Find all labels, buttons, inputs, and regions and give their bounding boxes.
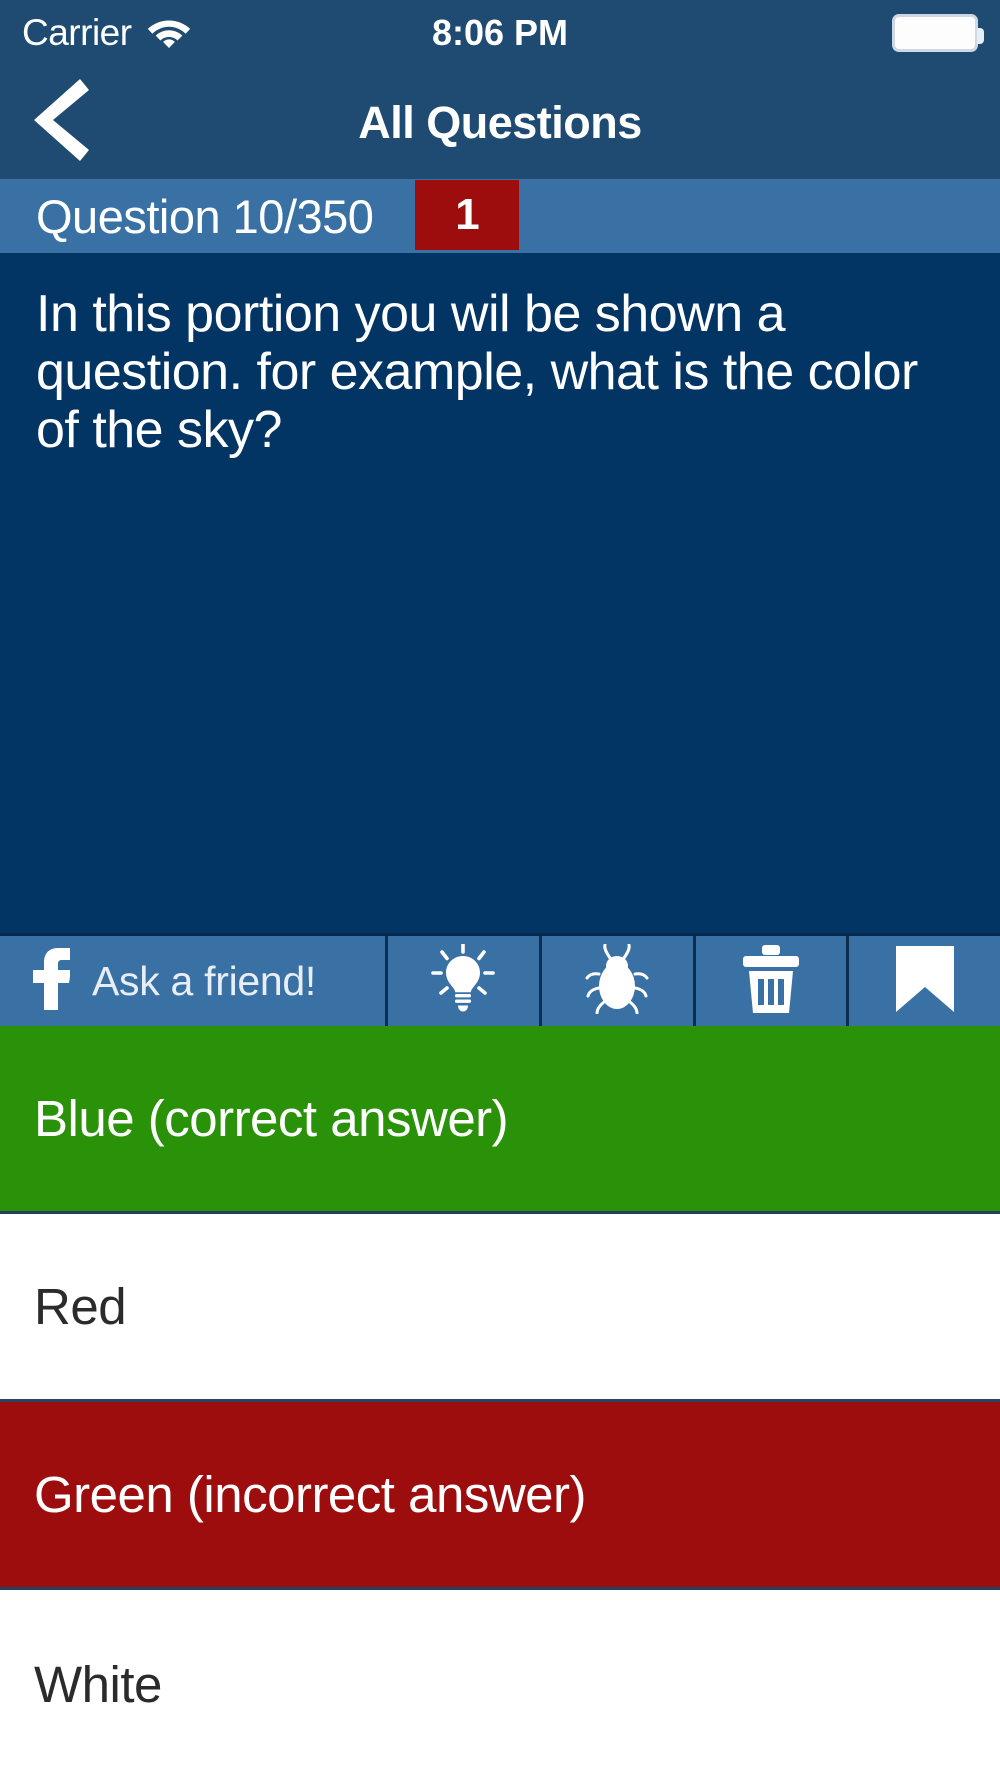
wifi-icon — [146, 14, 192, 53]
trash-icon — [741, 945, 801, 1018]
answer-option-4[interactable]: White — [0, 1590, 1000, 1778]
status-bar-right — [892, 14, 978, 52]
carrier-label: Carrier — [22, 12, 132, 54]
navigation-bar: All Questions — [0, 66, 1000, 179]
page-title: All Questions — [0, 97, 1000, 149]
answer-option-incorrect[interactable]: Green (incorrect answer) — [0, 1402, 1000, 1590]
facebook-icon — [32, 948, 70, 1015]
report-bug-button[interactable] — [539, 936, 693, 1026]
question-body: In this portion you wil be shown a quest… — [0, 253, 1000, 933]
question-header-bar: Question 10/350 1 — [0, 179, 1000, 253]
question-counter-label: Question 10/350 — [36, 189, 373, 244]
status-bar-left: Carrier — [22, 12, 192, 54]
question-text: In this portion you wil be shown a quest… — [36, 285, 964, 460]
quiz-screen: Carrier 8:06 PM All Questions — [0, 0, 1000, 1778]
bookmark-icon — [896, 946, 954, 1017]
lightbulb-icon — [431, 944, 495, 1019]
bug-icon — [584, 944, 650, 1019]
status-bar: Carrier 8:06 PM — [0, 0, 1000, 66]
delete-button[interactable] — [693, 936, 847, 1026]
answer-label: Green (incorrect answer) — [34, 1465, 586, 1524]
bookmark-button[interactable] — [846, 936, 1000, 1026]
hint-button[interactable] — [385, 936, 539, 1026]
answer-option-2[interactable]: Red — [0, 1214, 1000, 1402]
battery-full-icon — [892, 14, 978, 52]
ask-a-friend-label: Ask a friend! — [92, 958, 316, 1005]
status-badge: 1 — [415, 180, 519, 250]
answer-label: Red — [34, 1277, 126, 1336]
action-toolbar: Ask a friend! — [0, 933, 1000, 1026]
answer-option-correct[interactable]: Blue (correct answer) — [0, 1026, 1000, 1214]
answer-list: Blue (correct answer) Red Green (incorre… — [0, 1026, 1000, 1778]
chevron-left-icon — [31, 79, 89, 166]
back-button[interactable] — [0, 66, 120, 179]
ask-a-friend-button[interactable]: Ask a friend! — [0, 936, 385, 1026]
answer-label: White — [34, 1655, 162, 1714]
answer-label: Blue (correct answer) — [34, 1089, 508, 1148]
